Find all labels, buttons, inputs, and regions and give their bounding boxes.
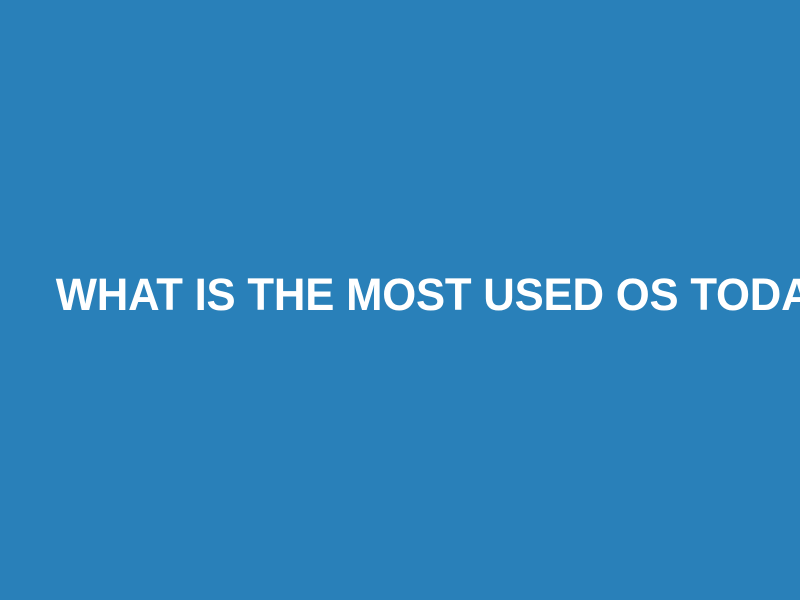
page-title: WHAT IS THE MOST USED OS TODAY? bbox=[56, 271, 754, 318]
title-card-banner: WHAT IS THE MOST USED OS TODAY? bbox=[0, 0, 800, 600]
headline-container: WHAT IS THE MOST USED OS TODAY? bbox=[5, 271, 800, 318]
